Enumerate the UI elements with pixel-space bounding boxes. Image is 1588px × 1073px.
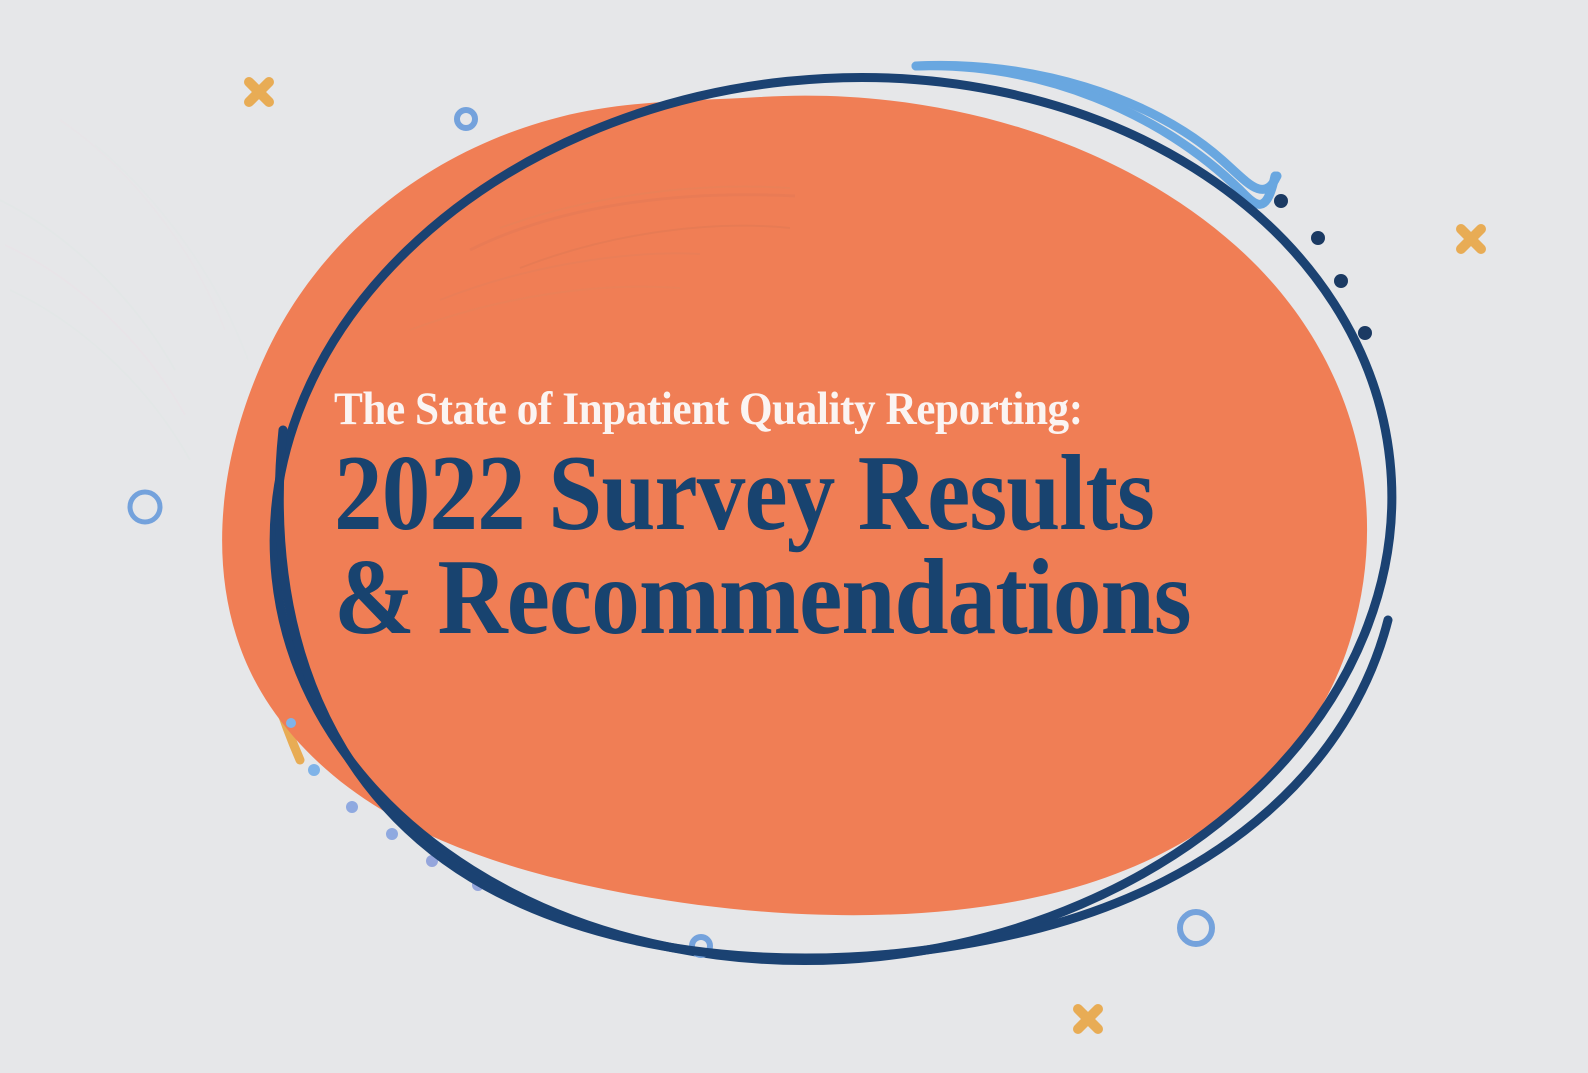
blue-dot-3: [346, 801, 358, 813]
blue-dot-2: [308, 764, 320, 776]
navy-dot-3: [1334, 274, 1348, 288]
blue-dot-1: [286, 718, 296, 728]
navy-dot-4: [1358, 326, 1372, 340]
blue-dot-4: [386, 828, 398, 840]
gold-cross-top-left-icon: [249, 82, 269, 102]
cover-title-line-1: 2022 Survey Results: [334, 439, 1234, 549]
blue-dot-6: [472, 879, 484, 891]
gold-cross-bottom-icon: [1078, 1009, 1098, 1029]
blue-ring-bottom-right-icon: [1180, 912, 1212, 944]
blue-ring-bottom-left-icon: [692, 937, 710, 955]
texture-wisps: [0, 120, 248, 460]
navy-dot-1: [1274, 194, 1288, 208]
cover-title-block: The State of Inpatient Quality Reporting…: [334, 386, 1334, 653]
blue-dot-5: [426, 855, 438, 867]
blue-ring-left-icon: [130, 492, 160, 522]
blue-ring-top-icon: [457, 110, 475, 128]
cover-eyebrow: The State of Inpatient Quality Reporting…: [334, 386, 1254, 433]
cover-canvas: The State of Inpatient Quality Reporting…: [0, 0, 1588, 1073]
gold-cross-top-right-icon: [1461, 229, 1481, 249]
navy-dot-2: [1311, 231, 1325, 245]
cover-title-line-2: & Recommendations: [334, 543, 1234, 653]
